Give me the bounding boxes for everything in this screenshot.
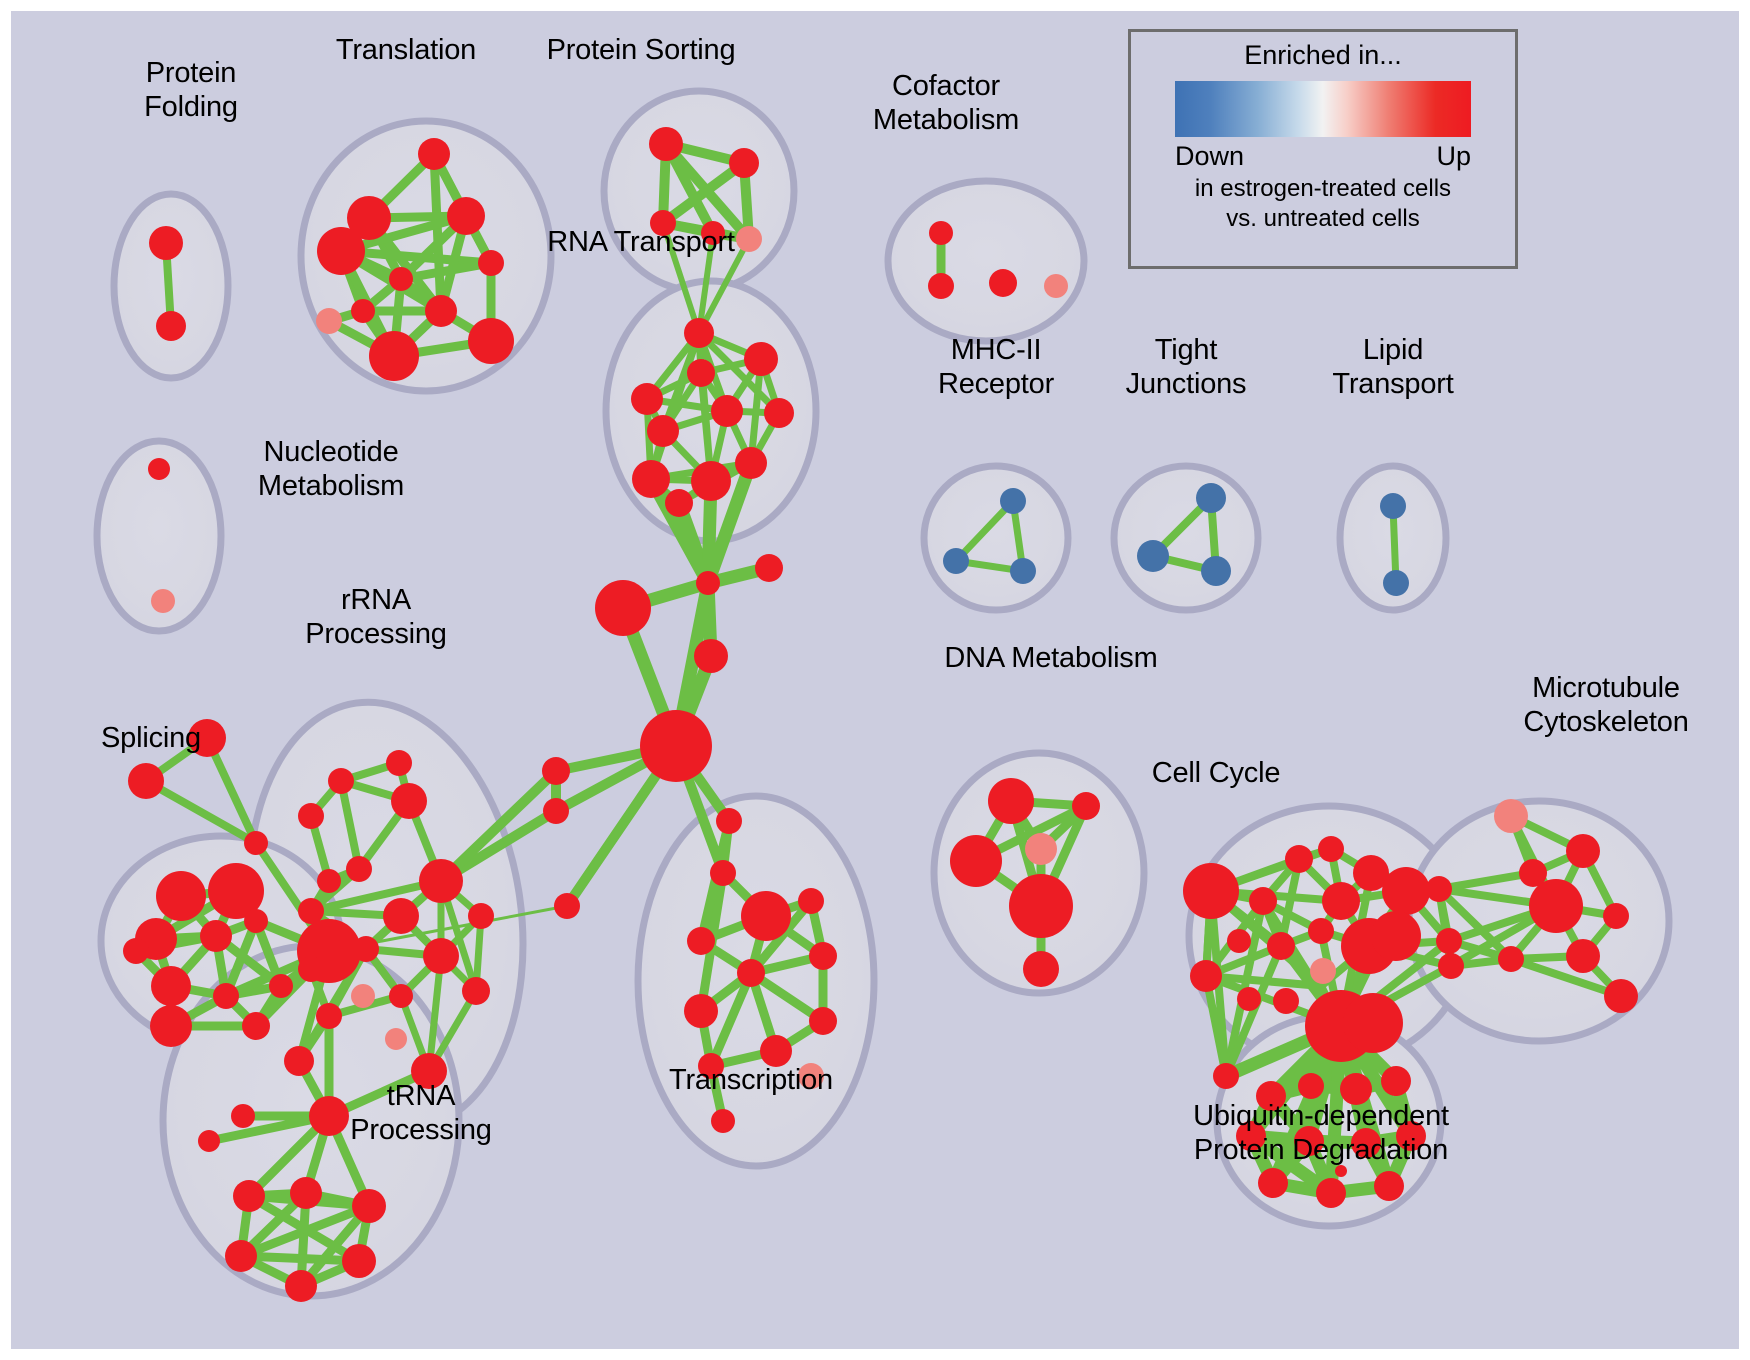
legend-subtitle: in estrogen-treated cells vs. untreated … (1131, 174, 1515, 234)
cluster-label-rrna-processing: rRNA Processing (261, 583, 491, 651)
network-map: Protein Folding Translation Protein Sort… (11, 11, 1739, 1349)
hull-cofactor (888, 181, 1084, 341)
legend-color-bar (1175, 81, 1471, 137)
cluster-label-mhc-ii-receptor: MHC-II Receptor (891, 333, 1101, 401)
cluster-label-splicing: Splicing (61, 721, 241, 755)
cluster-label-ubiquitin-protein-degradation: Ubiquitin-dependent Protein Degradation (1111, 1099, 1531, 1167)
hull-tight (1114, 466, 1258, 610)
cluster-label-trna-processing: tRNA Processing (311, 1079, 531, 1147)
cluster-label-cell-cycle: Cell Cycle (1111, 756, 1321, 790)
legend-panel: Enriched in... Down Up in estrogen-treat… (1128, 29, 1518, 269)
cluster-label-translation: Translation (291, 33, 521, 67)
figure-canvas: Protein Folding Translation Protein Sort… (0, 0, 1750, 1360)
cluster-label-lipid-transport: Lipid Transport (1293, 333, 1493, 401)
legend-label-down: Down (1175, 141, 1244, 172)
cluster-label-transcription: Transcription (626, 1063, 876, 1097)
hull-mhc (924, 466, 1068, 610)
cluster-label-microtubule-cytoskeleton: Microtubule Cytoskeleton (1461, 671, 1750, 739)
cluster-label-dna-metabolism: DNA Metabolism (911, 641, 1191, 675)
cluster-label-cofactor-metabolism: Cofactor Metabolism (821, 69, 1071, 137)
cluster-label-nucleotide-metabolism: Nucleotide Metabolism (196, 435, 466, 503)
cluster-label-tight-junctions: Tight Junctions (1086, 333, 1286, 401)
cluster-label-protein-sorting: Protein Sorting (501, 33, 781, 67)
legend-title: Enriched in... (1131, 40, 1515, 71)
legend-label-up: Up (1436, 141, 1471, 172)
cluster-label-rna-transport: RNA Transport (501, 225, 781, 259)
cluster-label-protein-folding: Protein Folding (86, 56, 296, 124)
